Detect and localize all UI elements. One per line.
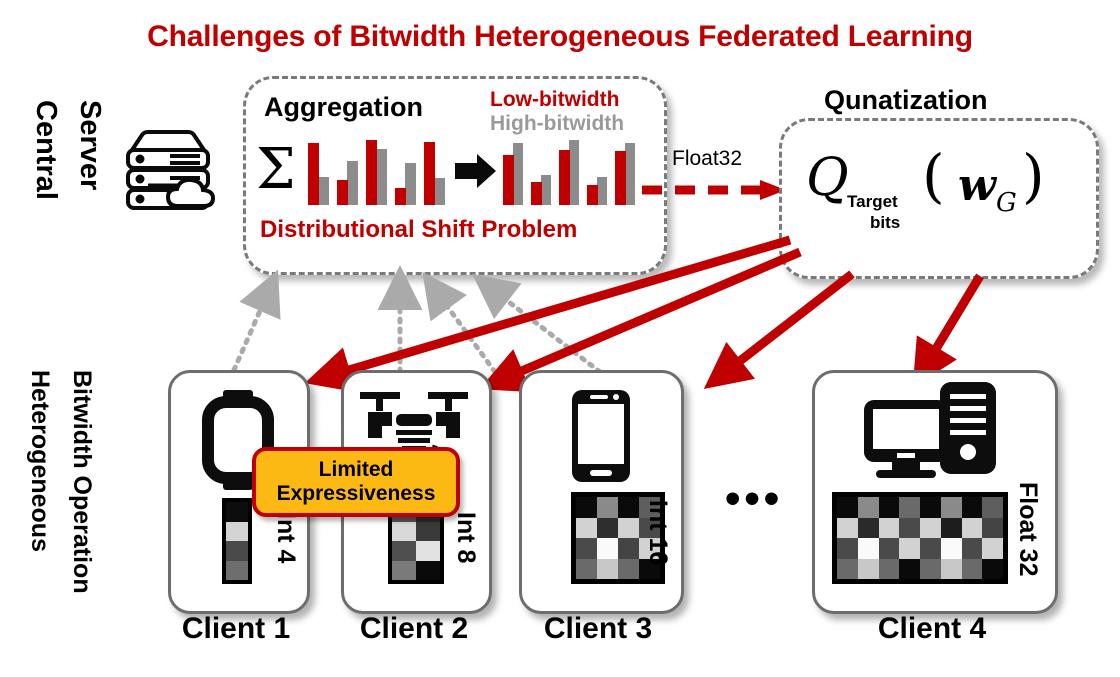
- weight-cell: [226, 522, 248, 542]
- weight-cell: [982, 538, 1003, 559]
- weight-cell: [941, 497, 962, 518]
- diagram-canvas: Challenges of Bitwidth Heterogeneous Fed…: [0, 0, 1120, 677]
- bar-after-aggregation-low-bitwidth-5: [615, 151, 626, 205]
- weight-cell: [597, 538, 618, 559]
- client-3-bitwidth-label: Int 16: [648, 500, 678, 590]
- weight-cell: [879, 518, 900, 539]
- downlink-arrow-client4: [922, 276, 980, 372]
- bar-chart-before: [308, 138, 453, 205]
- weight-cell: [899, 518, 920, 539]
- bar-before-aggregation-low-bitwidth-2: [337, 180, 348, 205]
- weight-grid-cells: [226, 502, 248, 580]
- weight-cell: [879, 538, 900, 559]
- weight-cell: [879, 497, 900, 518]
- bar-after-aggregation-low-bitwidth-4: [587, 185, 598, 205]
- weight-cell: [576, 538, 597, 559]
- weight-cell: [941, 538, 962, 559]
- uplink-arrow-client3: [434, 288, 495, 372]
- weight-cell: [899, 497, 920, 518]
- bar-before-aggregation-high-bitwidth-4: [405, 163, 416, 205]
- quantization-formula: Q Target bits ( w G ): [806, 140, 1086, 250]
- weight-cell: [618, 518, 639, 539]
- weight-cell: [392, 522, 416, 542]
- client-2-bitwidth-text: Int 8: [451, 512, 480, 563]
- side-label-heterogeneous-line1: Heterogeneous: [25, 370, 54, 552]
- downlink-arrow-client3: [718, 274, 852, 378]
- weight-cell: [920, 559, 941, 580]
- formula-sub-target: Target: [847, 192, 898, 212]
- bar-after-aggregation-high-bitwidth-3: [569, 140, 580, 205]
- transition-arrow-icon: [455, 152, 497, 190]
- badge-line-1: Limited: [256, 458, 456, 482]
- client-1-weight-grid: [222, 498, 252, 584]
- bar-after-aggregation-high-bitwidth-1: [513, 143, 524, 205]
- weight-cell: [576, 518, 597, 539]
- weight-cell: [982, 518, 1003, 539]
- weight-cell: [920, 497, 941, 518]
- server-cloud-icon: [118, 128, 218, 210]
- weight-cell: [879, 559, 900, 580]
- weight-cell: [920, 518, 941, 539]
- weight-cell: [962, 497, 983, 518]
- weight-cell: [858, 538, 879, 559]
- summation-symbol: Σ: [256, 142, 296, 198]
- weight-cell: [597, 518, 618, 539]
- bar-before-aggregation-high-bitwidth-1: [318, 177, 329, 205]
- client-4-name: Client 4: [852, 612, 1012, 646]
- weight-cell: [416, 522, 440, 542]
- bar-after-aggregation-high-bitwidth-4: [597, 177, 608, 205]
- weight-cell: [941, 518, 962, 539]
- uplink-arrow-client4: [488, 286, 600, 372]
- weight-cell: [597, 497, 618, 518]
- formula-open-paren: (: [922, 142, 945, 210]
- bar-before-aggregation-high-bitwidth-5: [434, 178, 445, 205]
- weight-cell: [899, 538, 920, 559]
- limited-expressiveness-badge: Limited Expressiveness: [252, 447, 460, 517]
- weight-cell: [392, 561, 416, 581]
- float32-dashed-arrow: [640, 178, 790, 202]
- client-2-name: Client 2: [336, 612, 492, 646]
- client-1-bitwidth-label: Int 4: [276, 512, 306, 592]
- client-4-bitwidth-text: Float 32: [1013, 482, 1042, 576]
- weight-cell: [899, 559, 920, 580]
- weight-cell: [837, 518, 858, 539]
- weight-cell: [226, 541, 248, 561]
- weight-cell: [920, 538, 941, 559]
- legend-low-bitwidth: Low-bitwidth: [490, 88, 619, 112]
- side-label-heterogeneous: Heterogeneous Bitwidth Operation: [18, 370, 128, 620]
- weight-cell: [618, 538, 639, 559]
- clients-ellipsis: •••: [725, 477, 783, 521]
- bar-after-aggregation-low-bitwidth-1: [503, 155, 514, 205]
- formula-sub-bits: bits: [870, 213, 900, 233]
- bar-chart-after: [503, 138, 643, 205]
- formula-close-paren: ): [1022, 142, 1045, 210]
- distributional-shift-label: Distributional Shift Problem: [260, 216, 577, 244]
- formula-argument-w: w: [958, 160, 996, 211]
- weight-cell: [962, 559, 983, 580]
- badge-line-2: Expressiveness: [256, 482, 456, 506]
- bar-before-aggregation-low-bitwidth-3: [366, 140, 377, 205]
- client-4-bitwidth-label: Float 32: [1014, 482, 1050, 592]
- bar-before-aggregation-high-bitwidth-3: [376, 149, 387, 205]
- weight-cell: [597, 559, 618, 580]
- weight-cell: [226, 502, 248, 522]
- weight-cell: [982, 497, 1003, 518]
- bar-after-aggregation-high-bitwidth-5: [625, 143, 636, 205]
- bar-before-aggregation-low-bitwidth-4: [395, 188, 406, 205]
- formula-q: Q: [806, 148, 849, 208]
- weight-cell: [618, 559, 639, 580]
- weight-cell: [576, 559, 597, 580]
- weight-grid-cells: [837, 497, 1003, 579]
- side-label-central-server-line1: Central: [29, 100, 62, 200]
- bar-after-aggregation-low-bitwidth-2: [531, 182, 542, 205]
- weight-cell: [941, 559, 962, 580]
- client-1-name: Client 1: [160, 612, 312, 646]
- bar-before-aggregation-high-bitwidth-2: [347, 161, 358, 205]
- weight-cell: [837, 538, 858, 559]
- client-2-bitwidth-label: Int 8: [456, 512, 486, 592]
- quantization-title: Qunatization: [824, 85, 988, 116]
- float32-label: Float32: [672, 147, 742, 171]
- side-label-heterogeneous-line2: Bitwidth Operation: [67, 370, 96, 594]
- bar-after-aggregation-high-bitwidth-2: [541, 175, 552, 205]
- client-3-name: Client 3: [516, 612, 680, 646]
- weight-cell: [837, 497, 858, 518]
- weight-cell: [416, 541, 440, 561]
- client-1-bitwidth-text: Int 4: [271, 512, 300, 563]
- weight-cell: [226, 561, 248, 581]
- weight-cell: [416, 561, 440, 581]
- side-label-central-server-line2: Server: [73, 100, 106, 190]
- desktop-pc-icon: [862, 380, 1002, 482]
- weight-cell: [392, 541, 416, 561]
- legend-high-bitwidth: High-bitwidth: [490, 112, 624, 136]
- weight-cell: [576, 497, 597, 518]
- formula-argument-sub-g: G: [996, 188, 1017, 218]
- page-title: Challenges of Bitwidth Heterogeneous Fed…: [0, 20, 1120, 54]
- weight-cell: [858, 559, 879, 580]
- weight-cell: [982, 559, 1003, 580]
- weight-cell: [618, 497, 639, 518]
- smartphone-icon: [570, 388, 632, 484]
- weight-cell: [962, 538, 983, 559]
- client-3-bitwidth-text: Int 16: [643, 500, 672, 565]
- client-4-weight-grid: [832, 492, 1008, 584]
- bar-after-aggregation-low-bitwidth-3: [559, 150, 570, 205]
- weight-cell: [837, 559, 858, 580]
- uplink-arrow-client1: [234, 288, 270, 370]
- bar-before-aggregation-low-bitwidth-1: [308, 143, 319, 205]
- aggregation-label: Aggregation: [264, 92, 423, 123]
- bar-before-aggregation-low-bitwidth-5: [424, 142, 435, 205]
- weight-cell: [858, 497, 879, 518]
- side-label-central-server: Central Server: [20, 100, 112, 300]
- weight-cell: [858, 518, 879, 539]
- weight-cell: [962, 518, 983, 539]
